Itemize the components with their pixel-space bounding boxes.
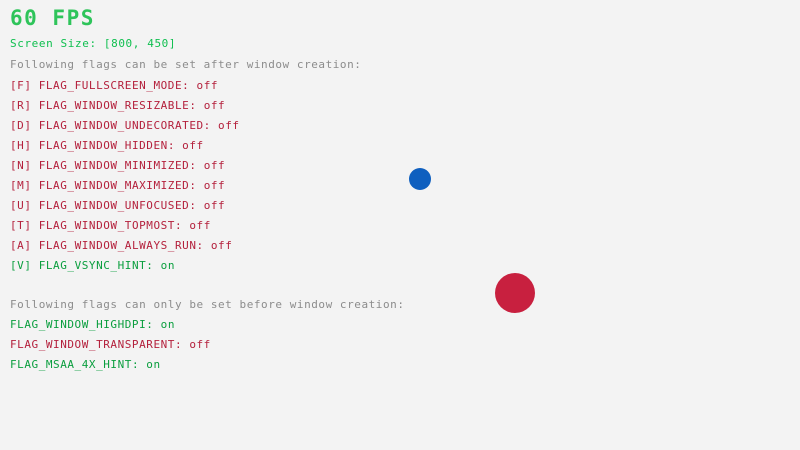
flag-separator: : xyxy=(175,338,189,351)
flag-name: FLAG_WINDOW_ALWAYS_RUN xyxy=(39,239,197,252)
flag-row-flag-window-unfocused[interactable]: [U] FLAG_WINDOW_UNFOCUSED: off xyxy=(10,199,225,213)
flag-separator: : xyxy=(189,159,203,172)
flag-value: on xyxy=(161,259,175,272)
flag-row-flag-window-maximized[interactable]: [M] FLAG_WINDOW_MAXIMIZED: off xyxy=(10,179,225,193)
flag-value: off xyxy=(189,219,211,232)
flag-separator: : xyxy=(189,179,203,192)
flag-name: FLAG_WINDOW_HIGHDPI xyxy=(10,318,146,331)
flag-name: FLAG_WINDOW_TOPMOST xyxy=(39,219,175,232)
flag-row-flag-window-resizable[interactable]: [R] FLAG_WINDOW_RESIZABLE: off xyxy=(10,99,225,113)
flag-separator: : xyxy=(168,139,182,152)
flag-key: [V] xyxy=(10,259,39,272)
flag-value: off xyxy=(182,139,204,152)
flag-key: [N] xyxy=(10,159,39,172)
flag-row-flag-window-hidden[interactable]: [H] FLAG_WINDOW_HIDDEN: off xyxy=(10,139,204,153)
flag-value: off xyxy=(204,99,226,112)
flag-key: [R] xyxy=(10,99,39,112)
flag-value: off xyxy=(211,239,233,252)
flag-value: off xyxy=(204,179,226,192)
flag-name: FLAG_MSAA_4X_HINT xyxy=(10,358,132,371)
flag-value: off xyxy=(204,199,226,212)
flag-key: [M] xyxy=(10,179,39,192)
flag-key: [D] xyxy=(10,119,39,132)
flag-name: FLAG_FULLSCREEN_MODE xyxy=(39,79,182,92)
raylib-window-canvas: 60 FPS Screen Size: [800, 450] Following… xyxy=(0,0,800,450)
flag-separator: : xyxy=(197,239,211,252)
flag-value: off xyxy=(189,338,211,351)
creation-flag-row-flag-window-highdpi: FLAG_WINDOW_HIGHDPI: on xyxy=(10,318,175,332)
creation-flags-heading: Following flags can only be set before w… xyxy=(10,298,405,312)
flag-name: FLAG_WINDOW_RESIZABLE xyxy=(39,99,190,112)
flag-name: FLAG_VSYNC_HINT xyxy=(39,259,147,272)
flag-separator: : xyxy=(132,358,146,371)
flag-name: FLAG_WINDOW_HIDDEN xyxy=(39,139,168,152)
flag-separator: : xyxy=(146,318,160,331)
flag-row-flag-fullscreen-mode[interactable]: [F] FLAG_FULLSCREEN_MODE: off xyxy=(10,79,218,93)
flag-value: off xyxy=(197,79,219,92)
flag-key: [H] xyxy=(10,139,39,152)
flag-value: off xyxy=(218,119,240,132)
flag-name: FLAG_WINDOW_MINIMIZED xyxy=(39,159,190,172)
flag-key: [F] xyxy=(10,79,39,92)
creation-flag-row-flag-msaa-4x-hint: FLAG_MSAA_4X_HINT: on xyxy=(10,358,161,372)
flag-row-flag-vsync-hint[interactable]: [V] FLAG_VSYNC_HINT: on xyxy=(10,259,175,273)
screen-size-label: Screen Size: [800, 450] xyxy=(10,37,176,50)
flag-separator: : xyxy=(189,99,203,112)
flag-name: FLAG_WINDOW_TRANSPARENT xyxy=(10,338,175,351)
flag-value: on xyxy=(161,318,175,331)
flag-separator: : xyxy=(175,219,189,232)
flag-separator: : xyxy=(204,119,218,132)
flag-name: FLAG_WINDOW_UNDECORATED xyxy=(39,119,204,132)
flag-row-flag-window-always-run[interactable]: [A] FLAG_WINDOW_ALWAYS_RUN: off xyxy=(10,239,232,253)
flag-name: FLAG_WINDOW_UNFOCUSED xyxy=(39,199,190,212)
fps-counter: 60 FPS xyxy=(10,6,95,30)
flag-row-flag-window-topmost[interactable]: [T] FLAG_WINDOW_TOPMOST: off xyxy=(10,219,211,233)
flag-separator: : xyxy=(189,199,203,212)
flag-name: FLAG_WINDOW_MAXIMIZED xyxy=(39,179,190,192)
flag-row-flag-window-undecorated[interactable]: [D] FLAG_WINDOW_UNDECORATED: off xyxy=(10,119,240,133)
flag-value: on xyxy=(146,358,160,371)
creation-flag-row-flag-window-transparent: FLAG_WINDOW_TRANSPARENT: off xyxy=(10,338,211,352)
flag-row-flag-window-minimized[interactable]: [N] FLAG_WINDOW_MINIMIZED: off xyxy=(10,159,225,173)
flag-key: [T] xyxy=(10,219,39,232)
flag-key: [A] xyxy=(10,239,39,252)
flag-separator: : xyxy=(146,259,160,272)
ball-red xyxy=(495,273,535,313)
flag-value: off xyxy=(204,159,226,172)
ball-blue xyxy=(409,168,431,190)
flag-separator: : xyxy=(182,79,196,92)
flag-key: [U] xyxy=(10,199,39,212)
runtime-flags-heading: Following flags can be set after window … xyxy=(10,58,361,72)
